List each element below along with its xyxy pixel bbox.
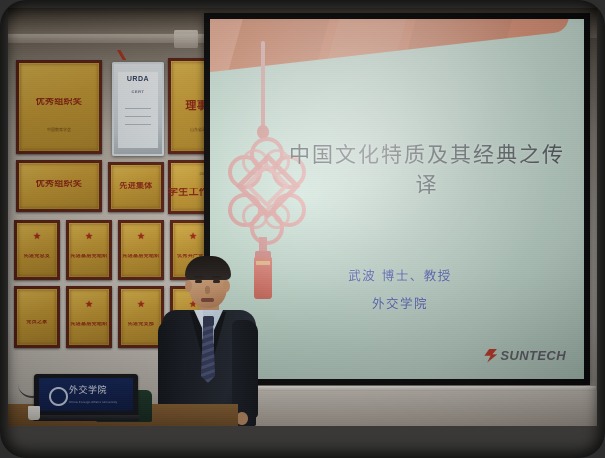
projection-screen-frame: 中国文化特质及其经典之传译 武波 博士、教授 外交学院 SUNTECH [204,13,590,385]
plaque: ★ 先进党总支 [14,220,60,280]
tie-knot [203,316,214,326]
laptop-slide-text: 外交学院 [69,387,107,396]
plaque: 党员之家 [14,286,60,348]
plaque: ★ 先进基层党组织 [66,286,112,348]
party-emblem-icon: ★ [33,232,41,241]
party-emblem-icon: ★ [137,232,145,241]
paper-cup [28,406,40,420]
plaque-title: 优秀组织奖 [16,180,102,189]
laptop: 外交学院 China Foreign Affairs University [34,374,138,422]
hair [185,256,231,280]
red-arrow-marker [112,50,130,60]
necktie [201,325,215,383]
party-emblem-icon: ★ [85,300,93,309]
lower-wall [204,391,597,426]
slide-presenter: 武波 博士、教授 [270,265,530,284]
certificate-frame: URDA CERT [112,62,164,156]
right-eyebrow [212,276,221,278]
party-emblem-icon: ★ [85,232,93,241]
nose [205,286,210,294]
lecture-photograph: 优秀组织奖 中国教育学会 URDA CERT 理事单位 山东省高等教育学会 优 [8,8,597,426]
presenter [156,254,260,426]
suntech-lightning-icon [484,349,497,363]
laptop-lid: 外交学院 China Foreign Affairs University [34,374,138,416]
plaque-title: 优秀组织奖 [16,98,102,107]
certificate-sub-text: CERT [114,89,162,94]
plaque-title: 先进党总支 [14,254,60,259]
party-emblem-icon: ★ [189,232,197,241]
plaque-title: 党员之家 [14,320,60,325]
suntech-wordmark: SUNTECH [500,348,566,363]
laptop-screen: 外交学院 China Foreign Affairs University [39,378,133,411]
photo-frame: 优秀组织奖 中国教育学会 URDA CERT 理事单位 山东省高等教育学会 优 [0,0,605,458]
left-eyebrow [194,276,203,278]
laptop-base [32,415,140,421]
laptop-slide-subtext: China Foreign Affairs University [69,400,117,404]
mouth [201,298,214,302]
right-eye [213,280,220,283]
party-emblem-icon: ★ [137,300,145,309]
plaque-title: 先进基层党组织 [66,322,112,327]
right-ear [223,280,230,292]
university-seal-icon [49,387,68,406]
plaque-title: 先进基层党组织 [66,254,112,259]
certificate-logo-text: URDA [114,76,162,83]
certificate-face [118,72,158,148]
slide-title: 中国文化特质及其经典之传译 [282,139,572,199]
plaque: 优秀组织奖 [16,160,102,212]
plaque: ★ 先进基层党组织 [66,220,112,280]
left-eye [195,280,202,283]
plaque: 先进集体 [108,162,164,212]
plaque-sub: 中国教育学会 [16,128,102,132]
plaque-title: 先进集体 [108,182,164,190]
suntech-logo: SUNTECH [484,348,566,363]
plaque: 优秀组织奖 中国教育学会 [16,60,102,154]
slide-affiliation: 外交学院 [270,293,530,312]
projection-screen: 中国文化特质及其经典之传译 武波 博士、教授 外交学院 SUNTECH [210,19,584,379]
left-ear [185,280,192,292]
